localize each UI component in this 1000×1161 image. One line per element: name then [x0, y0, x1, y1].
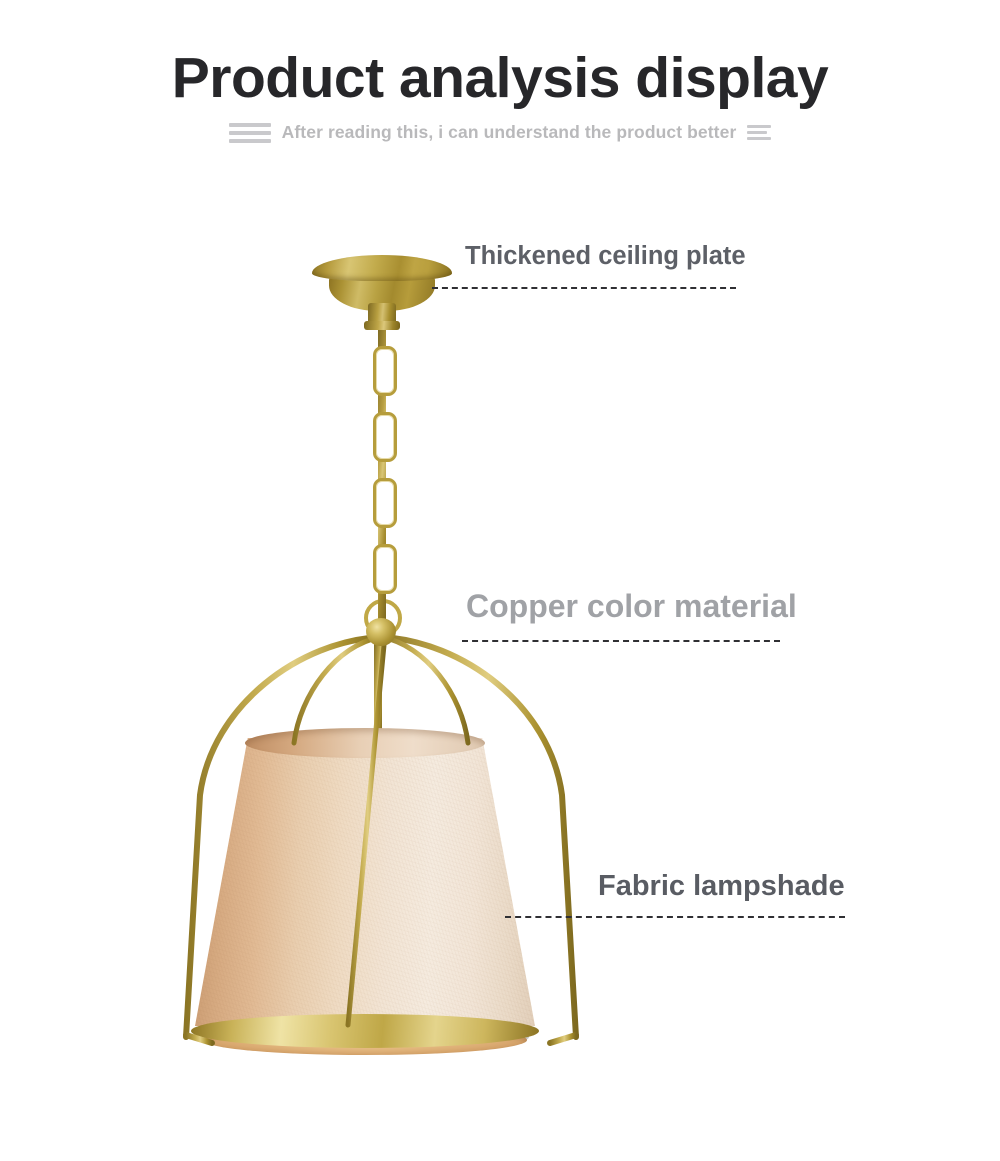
brass-trim-ring: [191, 1014, 539, 1048]
ceiling-plate-collar: [364, 321, 400, 330]
fabric-lampshade: [195, 728, 535, 1028]
page-title: Product analysis display: [0, 50, 1000, 107]
annotation-leader-line: [505, 916, 845, 918]
shade-top-opening: [245, 728, 485, 758]
ceiling-plate-rim: [312, 255, 452, 281]
annotation-label: Fabric lampshade: [598, 872, 845, 901]
annotation-label: Thickened ceiling plate: [465, 244, 746, 270]
subtitle-row: After reading this, i can understand the…: [0, 122, 1000, 143]
three-bars-icon: [229, 123, 271, 143]
annotation-leader-line: [462, 640, 780, 642]
page-header: Product analysis display After reading t…: [0, 0, 1000, 175]
three-bars-icon: [747, 125, 771, 140]
frame-ball-joint: [366, 618, 396, 646]
page-subtitle: After reading this, i can understand the…: [282, 122, 737, 143]
shade-texture: [195, 738, 535, 1026]
center-stem: [374, 641, 382, 741]
product-figure: [0, 175, 1000, 1161]
annotation-leader-line: [432, 287, 736, 289]
product-analysis-page: Product analysis display After reading t…: [0, 0, 1000, 1161]
annotation-label: Copper color material: [466, 590, 797, 622]
suspension-chain: [372, 328, 392, 628]
